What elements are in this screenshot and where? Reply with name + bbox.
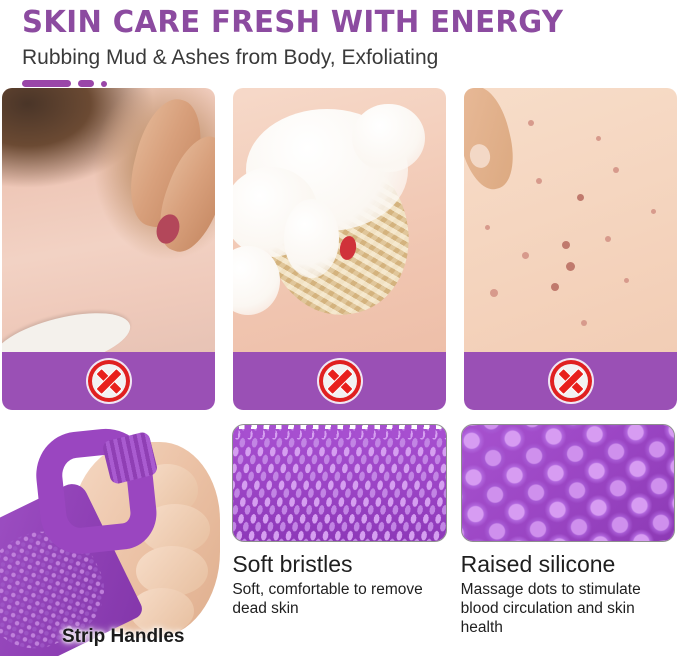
- problem-bar-3: [464, 352, 677, 410]
- problem-photo-row: [0, 88, 679, 410]
- blemish-spot: [536, 178, 542, 184]
- blemish-spot: [577, 194, 584, 201]
- soft-bristles-body: Soft, comfortable to remove dead skin: [232, 580, 446, 618]
- loofah-sponge-photo: [233, 88, 446, 352]
- divider-dashes: [22, 80, 679, 87]
- raised-silicone-title: Raised silicone: [461, 551, 675, 578]
- product-in-hand-photo: Strip Handles: [4, 424, 218, 656]
- acne-back-photo: [464, 88, 677, 352]
- divider-dot: [101, 81, 107, 87]
- blemish-spot: [566, 262, 575, 271]
- problem-card-1: [2, 88, 215, 410]
- red-cross-icon: [319, 360, 361, 402]
- blemish-spot: [551, 283, 559, 291]
- problem-card-3: [464, 88, 677, 410]
- page-subtitle: Rubbing Mud & Ashes from Body, Exfoliati…: [22, 43, 679, 73]
- bristle-texture: [232, 429, 446, 541]
- feature-row: Strip Handles Soft bristles Soft, comfor…: [0, 424, 679, 656]
- blemish-spot: [596, 136, 601, 141]
- soft-bristles-title: Soft bristles: [232, 551, 446, 578]
- infographic-page: SKIN CARE FRESH WITH ENERGY Rubbing Mud …: [0, 0, 679, 656]
- raised-silicone-photo: [461, 424, 675, 542]
- blemish-spot: [624, 278, 629, 283]
- collar-shape: [2, 302, 136, 352]
- silicone-scrubber-shape: [0, 426, 196, 654]
- problem-bar-2: [233, 352, 446, 410]
- page-title: SKIN CARE FRESH WITH ENERGY: [22, 6, 659, 40]
- problem-bar-1: [2, 352, 215, 410]
- red-cross-icon: [550, 360, 592, 402]
- foam-shape: [352, 104, 424, 173]
- red-cross-icon: [88, 360, 130, 402]
- strip-handles-label: Strip Handles: [62, 626, 184, 648]
- blemish-spot: [605, 236, 611, 242]
- header: SKIN CARE FRESH WITH ENERGY Rubbing Mud …: [0, 0, 679, 87]
- blemish-spot: [613, 167, 619, 173]
- feature-card-handles: Strip Handles: [4, 424, 218, 656]
- massage-dot-texture: [461, 424, 675, 542]
- problem-card-2: [233, 88, 446, 410]
- soft-bristles-photo: [232, 424, 446, 542]
- blemish-spot: [522, 252, 529, 259]
- feature-card-soft-bristles: Soft bristles Soft, comfortable to remov…: [232, 424, 446, 656]
- divider-dash-long: [22, 80, 71, 87]
- feature-card-raised-silicone: Raised silicone Massage dots to stimulat…: [461, 424, 675, 656]
- thumb-shape: [464, 88, 522, 195]
- blemish-spot: [581, 320, 587, 326]
- blemish-spot: [562, 241, 570, 249]
- raised-silicone-body: Massage dots to stimulate blood circulat…: [461, 580, 675, 637]
- divider-dash-medium: [78, 80, 94, 87]
- blemish-spot: [490, 289, 498, 297]
- blemish-spot: [485, 225, 490, 230]
- skin-closeup-photo: [2, 88, 215, 352]
- blemish-spot: [528, 120, 534, 126]
- blemish-spot: [651, 209, 656, 214]
